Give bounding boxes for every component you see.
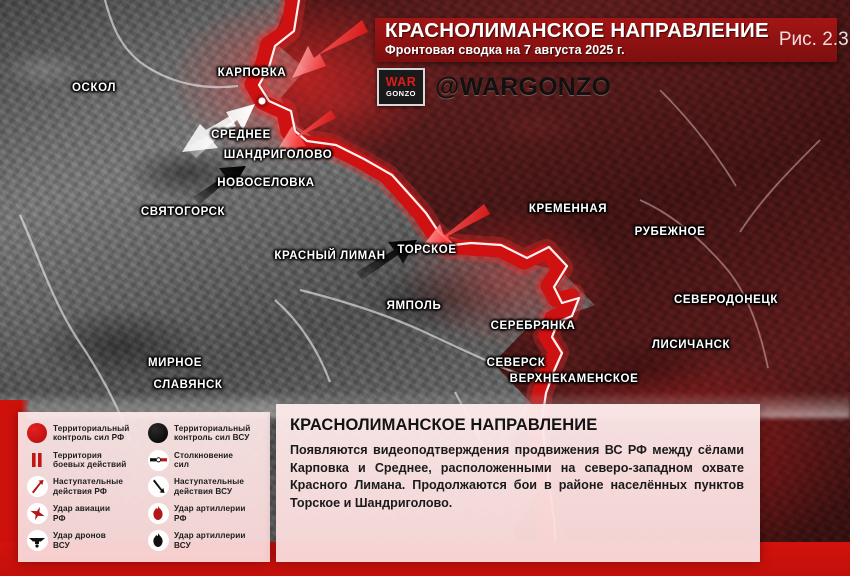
legend-item: Столкновениесил (147, 447, 264, 474)
legend-item-label: Территориябоевых действий (53, 451, 126, 470)
legend-item: Территориальныйконтроль сил РФ (26, 420, 143, 447)
black-filled-circle-icon (147, 422, 169, 444)
legend-item-label: Удар артиллерииВСУ (174, 531, 246, 550)
black-arrow-advance-icon (147, 476, 169, 498)
legend-item-label: Наступательныедействия РФ (53, 477, 123, 496)
legend-item-label: Удар авиацииРФ (53, 504, 110, 523)
red-arrow-advance-icon (26, 476, 48, 498)
clash-of-forces-icon (147, 449, 169, 471)
summary-body: Появляются видеоподтверждения продвижени… (290, 442, 744, 512)
brand-row: WAR GONZO @WARGONZO (377, 68, 611, 106)
header-banner: КРАСНОЛИМАНСКОЕ НАПРАВЛЕНИЕ Фронтовая св… (375, 18, 837, 62)
summary-panel: КРАСНОЛИМАНСКОЕ НАПРАВЛЕНИЕ Появляются в… (276, 404, 760, 562)
legend-item: Удар дроновВСУ (26, 527, 143, 554)
logo-line-gonzo: GONZO (386, 89, 416, 98)
legend-item: Удар артиллерииВСУ (147, 527, 264, 554)
legend-item-label: Удар дроновВСУ (53, 531, 106, 550)
legend-item: Территориальныйконтроль сил ВСУ (147, 420, 264, 447)
legend-item: Территориябоевых действий (26, 447, 143, 474)
legend-item-label: Наступательныедействия ВСУ (174, 477, 244, 496)
red-filled-circle-icon (26, 422, 48, 444)
legend-panel: Территориальныйконтроль сил РФТерриториа… (18, 412, 270, 562)
legend-item: Наступательныедействия РФ (26, 474, 143, 501)
legend-item-label: Столкновениесил (174, 451, 233, 470)
legend-item-label: Территориальныйконтроль сил РФ (53, 424, 129, 443)
figure-number: Рис. 2.3 (769, 20, 849, 60)
brand-handle: @WARGONZO (435, 73, 611, 102)
legend-item: Наступательныедействия ВСУ (147, 474, 264, 501)
legend-item-label: Территориальныйконтроль сил ВСУ (174, 424, 250, 443)
red-artillery-strike-icon (147, 503, 169, 525)
logo-line-war: WAR (386, 76, 417, 89)
aviation-strike-icon (26, 503, 48, 525)
wargonzo-logo: WAR GONZO (377, 68, 425, 106)
legend-item-label: Удар артиллерииРФ (174, 504, 246, 523)
summary-title: КРАСНОЛИМАНСКОЕ НАПРАВЛЕНИЕ (290, 416, 744, 435)
city-dot-karpovka (258, 97, 267, 106)
header-subtitle: Фронтовая сводка на 7 августа 2025 г. (385, 42, 769, 58)
red-hatched-bars-icon (26, 449, 48, 471)
drone-strike-icon (26, 530, 48, 552)
legend-item: Удар авиацииРФ (26, 500, 143, 527)
legend-item: Удар артиллерииРФ (147, 500, 264, 527)
header-title: КРАСНОЛИМАНСКОЕ НАПРАВЛЕНИЕ (385, 20, 769, 42)
black-artillery-strike-icon (147, 530, 169, 552)
map-infographic-screen: ОСКОЛКАРПОВКАСРЕДНЕЕШАНДРИГОЛОВОНОВОСЕЛО… (0, 0, 850, 576)
summary-paragraph: Появляются видеоподтверждения продвижени… (290, 442, 744, 512)
